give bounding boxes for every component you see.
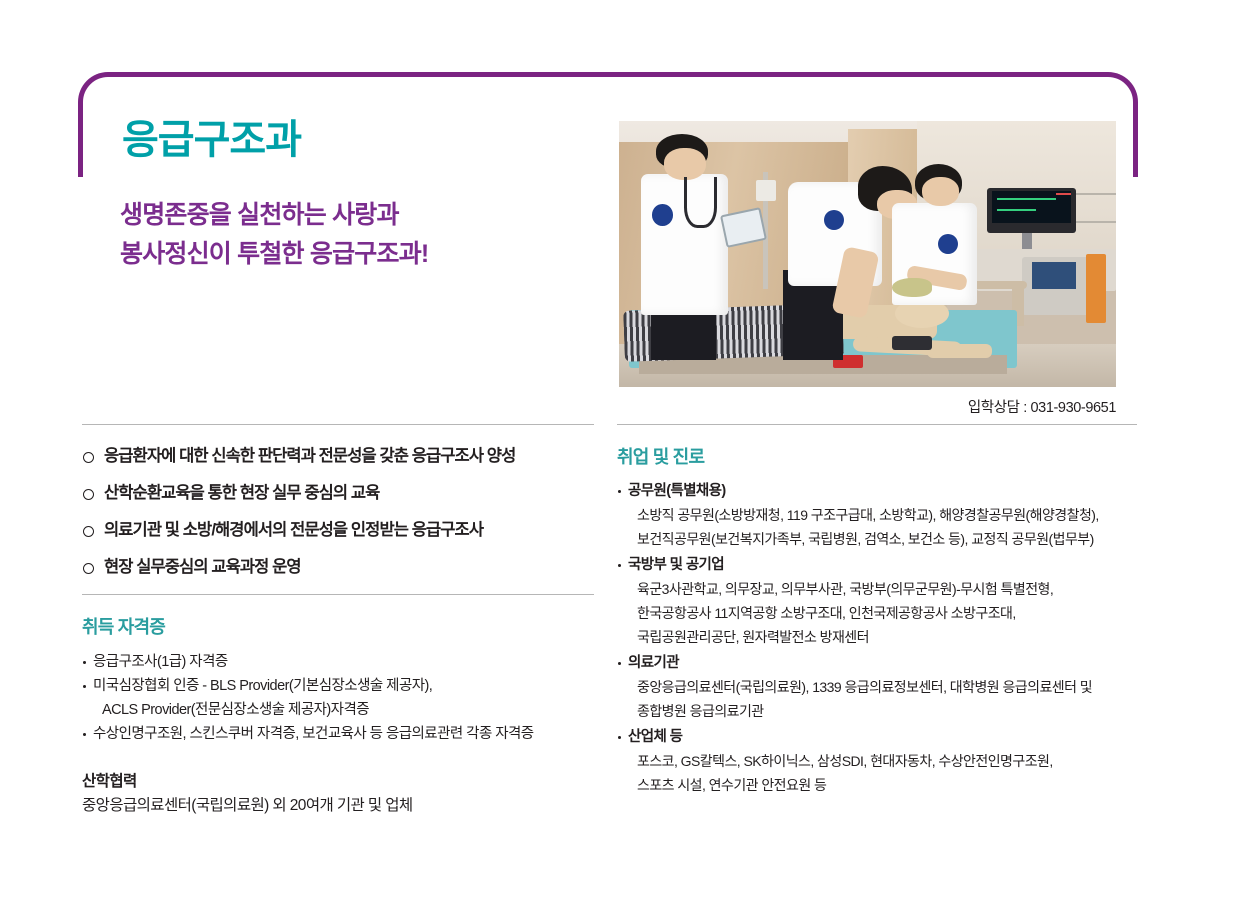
career-group-title: 의료기관 xyxy=(628,653,1137,675)
left-column: 응급환자에 대한 신속한 판단력과 전문성을 갖춘 응급구조사 양성 산학순환교… xyxy=(82,424,594,817)
career-group: 국방부 및 공기업 육군3사관학교, 의무장교, 의무부사관, 국방부(의무군무… xyxy=(617,555,1137,649)
certification-text: 응급구조사(1급) 자격증 xyxy=(93,654,228,670)
photo-monitor-waveform-2 xyxy=(997,209,1037,211)
career-group: 공무원(특별채용) 소방직 공무원(소방방재청, 119 구조구급대, 소방학교… xyxy=(617,481,1137,551)
career-detail-line: 소방직 공무원(소방방재청, 119 구조구급대, 소방학교), 해양경찰공무원… xyxy=(637,503,1137,527)
certification-item: 미국심장협회 인증 - BLS Provider(기본심장소생술 제공자), A… xyxy=(82,675,594,722)
career-detail-line: 포스코, GS칼텍스, SK하이닉스, 삼성SDI, 현대자동차, 수상안전인명… xyxy=(637,749,1137,773)
career-group: 의료기관 중앙응급의료센터(국립의료원), 1339 응급의료정보센터, 대학병… xyxy=(617,653,1137,723)
photo-student-1-emblem xyxy=(651,203,674,226)
goal-item: 의료기관 및 소방/해경에서의 전문성을 인정받는 응급구조사 xyxy=(82,519,594,543)
career-group-details: 중앙응급의료센터(국립의료원), 1339 응급의료정보센터, 대학병원 응급의… xyxy=(628,675,1137,723)
photo-monitor-alarm-bar xyxy=(1056,193,1071,195)
right-column: 취업 및 진로 공무원(특별채용) 소방직 공무원(소방방재청, 119 구조구… xyxy=(617,424,1137,801)
career-detail-line: 한국공항공사 11지역공항 소방구조대, 인천국제공항공사 소방구조대, xyxy=(637,601,1137,625)
career-group-details: 포스코, GS칼텍스, SK하이닉스, 삼성SDI, 현대자동차, 수상안전인명… xyxy=(628,749,1137,797)
divider-goals-top xyxy=(82,424,594,425)
photo-manikin-leg xyxy=(927,344,992,357)
goal-item: 현장 실무중심의 교육과정 운영 xyxy=(82,556,594,580)
photo-monitor-screen xyxy=(992,191,1072,223)
photo-student-1-face xyxy=(664,148,706,180)
career-group-title: 산업체 등 xyxy=(628,727,1137,749)
cpr-training-photo xyxy=(619,121,1116,387)
goal-item: 응급환자에 대한 신속한 판단력과 전문성을 갖춘 응급구조사 양성 xyxy=(82,445,594,469)
photo-student-3-emblem xyxy=(937,233,959,255)
industry-cooperation-heading: 산학협력 xyxy=(82,769,594,791)
career-group: 산업체 등 포스코, GS칼텍스, SK하이닉스, 삼성SDI, 현대자동차, … xyxy=(617,727,1137,797)
career-detail-line: 육군3사관학교, 의무장교, 의무부사관, 국방부(의무군무원)-무시험 특별전… xyxy=(637,577,1137,601)
career-group-title: 국방부 및 공기업 xyxy=(628,555,1137,577)
education-goals-list: 응급환자에 대한 신속한 판단력과 전문성을 갖춘 응급구조사 양성 산학순환교… xyxy=(82,445,594,580)
photo-stethoscope-icon xyxy=(684,177,717,228)
slogan-line-1: 생명존중을 실천하는 사랑과 xyxy=(120,196,428,235)
career-group-title: 공무원(특별채용) xyxy=(628,481,1137,503)
industry-cooperation-body: 중앙응급의료센터(국립의료원) 외 20여개 기관 및 업체 xyxy=(82,794,594,817)
divider-certifications-top xyxy=(82,594,594,595)
career-detail-line: 종합병원 응급의료기관 xyxy=(637,699,1137,723)
certification-item: 응급구조사(1급) 자격증 xyxy=(82,651,594,674)
page-title: 응급구조과 xyxy=(122,118,301,162)
career-detail-line: 스포츠 시설, 연수기관 안전요원 등 xyxy=(637,773,1137,797)
certifications-heading: 취득 자격증 xyxy=(82,613,594,639)
photo-iv-bag xyxy=(756,180,776,201)
career-detail-line: 국립공원관리공단, 원자력발전소 방재센터 xyxy=(637,625,1137,649)
certification-text-continued: ACLS Provider(전문심장소생술 제공자)자격증 xyxy=(93,699,594,722)
divider-careers-top xyxy=(617,424,1137,425)
career-detail-line: 중앙응급의료센터(국립의료원), 1339 응급의료정보센터, 대학병원 응급의… xyxy=(637,675,1137,699)
certification-text: 미국심장협회 인증 - BLS Provider(기본심장소생술 제공자), xyxy=(93,678,432,694)
admission-contact: 입학상담 : 031-930-9651 xyxy=(619,396,1116,417)
certification-text: 수상인명구조원, 스킨스쿠버 자격증, 보건교육사 등 응급의료관련 각종 자격… xyxy=(93,726,534,742)
photo-bp-cuff xyxy=(892,336,932,349)
slogan-line-2: 봉사정신이 투철한 응급구조과! xyxy=(120,235,428,274)
certifications-list: 응급구조사(1급) 자격증 미국심장협회 인증 - BLS Provider(기… xyxy=(82,651,594,747)
careers-heading: 취업 및 진로 xyxy=(617,443,1137,469)
photo-orange-strap xyxy=(1086,254,1106,323)
photo-monitor-waveform-1 xyxy=(997,198,1057,200)
career-group-details: 소방직 공무원(소방방재청, 119 구조구급대, 소방학교), 해양경찰공무원… xyxy=(628,503,1137,551)
photo-defibrillator-screen xyxy=(1032,262,1077,289)
photo-student-3-face xyxy=(922,177,959,206)
photo-student-2-emblem xyxy=(823,209,845,231)
photo-bag-valve-mask xyxy=(892,278,932,297)
certification-item: 수상인명구조원, 스킨스쿠버 자격증, 보건교육사 등 응급의료관련 각종 자격… xyxy=(82,723,594,746)
career-detail-line: 보건직공무원(보건복지가족부, 국립병원, 검역소, 보건소 등), 교정직 공… xyxy=(637,527,1137,551)
department-slogan: 생명존중을 실천하는 사랑과 봉사정신이 투철한 응급구조과! xyxy=(120,196,428,274)
careers-group-list: 공무원(특별채용) 소방직 공무원(소방방재청, 119 구조구급대, 소방학교… xyxy=(617,481,1137,797)
goal-item: 산학순환교육을 통한 현장 실무 중심의 교육 xyxy=(82,482,594,506)
career-group-details: 육군3사관학교, 의무장교, 의무부사관, 국방부(의무군무원)-무시험 특별전… xyxy=(628,577,1137,649)
